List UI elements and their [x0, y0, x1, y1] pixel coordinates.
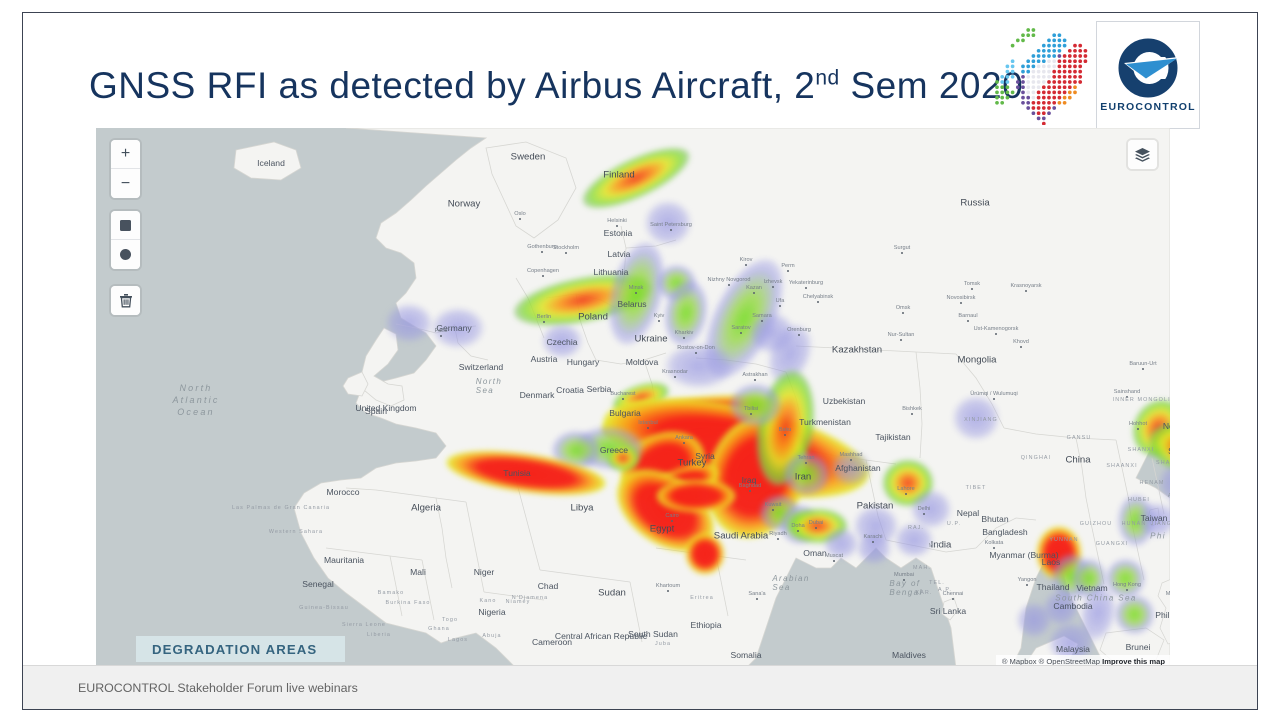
- map-label-city: Krasnodar: [662, 369, 688, 375]
- map-city-dot: [745, 264, 747, 266]
- map-label-city: Nizhny Novgorod: [708, 277, 751, 283]
- map-label-city: Astrakhan: [742, 372, 767, 378]
- slide-canvas: GNSS RFI as detected by Airbus Aircraft,…: [22, 12, 1258, 710]
- map-label-country: Nepal: [957, 508, 979, 518]
- map-label-city: Baku: [779, 427, 792, 433]
- map-label-country: Laos: [1042, 557, 1061, 567]
- map-city-dot: [805, 287, 807, 289]
- map-city-dot: [952, 598, 954, 600]
- delete-control-group[interactable]: [111, 286, 140, 315]
- map-label-country: Denmark: [520, 390, 555, 400]
- map-label-country: Mongolia: [958, 355, 997, 366]
- map-label-country: Vietnam: [1076, 583, 1107, 593]
- map-label-country: Iran: [795, 472, 812, 483]
- map-city-dot: [960, 302, 962, 304]
- map-city-dot: [1126, 589, 1128, 591]
- map-city-dot: [772, 509, 774, 511]
- zoom-in-button[interactable]: +: [111, 140, 140, 169]
- map-label-country: Greece: [600, 445, 628, 455]
- map-city-dot: [971, 288, 973, 290]
- map-label-city: Omsk: [896, 305, 911, 311]
- map-label-city: Krasnoyarsk: [1010, 283, 1041, 289]
- map-label-region: TIBET: [966, 485, 987, 491]
- layers-icon: [1134, 147, 1151, 163]
- map-label-country: Czechia: [546, 337, 577, 347]
- map-label-city: Barnaul: [958, 313, 977, 319]
- slide-footer: EUROCONTROL Stakeholder Forum live webin…: [23, 665, 1257, 709]
- map-label-country: North Korea: [1163, 421, 1170, 431]
- map-label-region: A.P.: [938, 587, 952, 593]
- delete-shapes-button[interactable]: [111, 286, 140, 315]
- map-label-city: Ust-Kamenogorsk: [974, 326, 1019, 332]
- degradation-areas-label: DEGRADATION AREAS: [152, 642, 317, 657]
- map-city-dot: [784, 434, 786, 436]
- map-city-dot: [872, 541, 874, 543]
- map-label-region: HUBEI: [1128, 497, 1150, 503]
- map-label-city: Ufa: [776, 298, 785, 304]
- zoom-control-group[interactable]: + −: [111, 140, 140, 198]
- map-label-city: Tehran: [797, 455, 814, 461]
- map-label-country: Moldova: [626, 357, 658, 367]
- map-label-city: Tomsk: [964, 281, 980, 287]
- map-label-country: Sweden: [511, 152, 546, 163]
- map-label-country: Tajikistan: [875, 432, 910, 442]
- map-city-dot: [967, 320, 969, 322]
- map-city-dot: [993, 547, 995, 549]
- map-label-country: Lithuania: [594, 267, 629, 277]
- map-label-country: Cambodia: [1053, 601, 1092, 611]
- map-city-dot: [622, 398, 624, 400]
- map-label-country: Philippines: [1155, 610, 1170, 620]
- map-city-dot: [750, 413, 752, 415]
- map-city-dot: [787, 270, 789, 272]
- map-label-city: Hohhot: [1129, 421, 1147, 427]
- map-label-city: Kazan: [746, 285, 762, 291]
- map-label-country: Finland: [603, 170, 634, 181]
- map-label-city: Kharkiv: [675, 330, 694, 336]
- map-label-layer: IcelandSwedenNorwayFinlandRussiaDenmarkU…: [96, 128, 1170, 668]
- map-label-city: Gothenburg: [527, 244, 557, 250]
- map-label-city: Lahore: [897, 486, 914, 492]
- map-label-city: Baghdad: [739, 483, 761, 489]
- map-label-region: Niamey: [506, 599, 531, 605]
- map-label-country: South Korea: [1168, 446, 1170, 456]
- map-label-country: Hungary: [567, 357, 599, 367]
- map-city-dot: [772, 286, 774, 288]
- map-label-country: Tunisia: [503, 468, 530, 478]
- map-label-country: Austria: [531, 354, 558, 364]
- map-city-dot: [543, 321, 545, 323]
- map-label-country: Egypt: [650, 524, 675, 535]
- map-label-country: Algeria: [411, 503, 441, 514]
- map-label-country: Thailand: [1037, 582, 1070, 592]
- map-label-country: Senegal: [302, 579, 334, 589]
- map-label-country: Ethiopia: [690, 620, 721, 630]
- map-label-country: Saudi Arabia: [714, 531, 768, 542]
- map-city-dot: [902, 312, 904, 314]
- map-label-region: JIANGXI: [1151, 521, 1170, 527]
- map-label-city: Yekaterinburg: [789, 280, 823, 286]
- zoom-out-button[interactable]: −: [111, 169, 140, 198]
- map-label-region: HENAM: [1140, 480, 1165, 486]
- map-label-country: Ukraine: [634, 334, 667, 345]
- map-label-city: Rostov-on-Don: [677, 345, 715, 351]
- map-city-dot: [850, 459, 852, 461]
- map-label-region: TEL.: [929, 580, 945, 586]
- map-city-dot: [905, 493, 907, 495]
- map-city-dot: [1137, 428, 1139, 430]
- map-label-region: U.P.: [947, 521, 961, 527]
- map-label-region: Lagos: [448, 637, 468, 643]
- map-label-country: Mauritania: [324, 555, 364, 565]
- map-label-region: Bamako: [378, 590, 404, 596]
- map-city-dot: [833, 560, 835, 562]
- map-label-city: Bucharest: [610, 391, 635, 397]
- map-city-dot: [1020, 346, 1022, 348]
- map-city-dot: [798, 334, 800, 336]
- map-city-dot: [761, 320, 763, 322]
- map-city-dot: [900, 339, 902, 341]
- map-label-country: Morocco: [327, 487, 360, 497]
- layers-control-group[interactable]: [1128, 140, 1157, 169]
- map-label-city: Cairo: [665, 513, 678, 519]
- map-label-city: Kolkata: [985, 540, 1004, 546]
- map-city-dot: [753, 292, 755, 294]
- map-label-region: Burkina Faso: [386, 600, 431, 606]
- map-label-city: Manila: [1166, 591, 1170, 597]
- europe-dot-map-logo: [993, 27, 1093, 125]
- footer-text: EUROCONTROL Stakeholder Forum live webin…: [78, 681, 358, 695]
- map-label-region: RAJ.: [908, 525, 924, 531]
- map-city-dot: [779, 305, 781, 307]
- map-city-dot: [671, 520, 673, 522]
- rfi-heatmap[interactable]: IcelandSwedenNorwayFinlandRussiaDenmarkU…: [96, 128, 1170, 668]
- map-label-region: SHANXI: [1128, 447, 1155, 453]
- draw-polygon-button[interactable]: [111, 211, 140, 240]
- map-label-country: Norway: [448, 199, 481, 210]
- map-label-country: Somalia: [730, 650, 761, 660]
- map-label-water: NorthAtlanticOcean: [172, 382, 219, 418]
- map-label-city: Mumbai: [894, 572, 914, 578]
- map-label-city: Baruun-Urt: [1129, 361, 1156, 367]
- map-label-city: Sana'a: [748, 591, 765, 597]
- map-city-dot: [440, 335, 442, 337]
- map-label-region: HUNAN: [1122, 521, 1147, 527]
- map-city-dot: [901, 252, 903, 254]
- map-label-country: Bhutan: [981, 514, 1008, 524]
- map-label-country: Brunei: [1126, 642, 1151, 652]
- map-label-country: Latvia: [608, 249, 631, 259]
- eurocontrol-emblem-icon: [1111, 38, 1185, 98]
- map-city-dot: [683, 442, 685, 444]
- map-label-city: Istanbul: [638, 420, 658, 426]
- map-label-region: GANSU: [1067, 435, 1092, 441]
- map-label-country: Bangladesh: [982, 527, 1027, 537]
- map-label-country: Syria: [695, 451, 715, 461]
- map-label-city: Saratov: [731, 325, 750, 331]
- map-label-region: Ghana: [428, 626, 450, 632]
- map-label-country: Belarus: [617, 299, 646, 309]
- map-label-country: Chad: [538, 581, 559, 591]
- title-ordinal-superscript: nd: [815, 67, 839, 90]
- map-city-dot: [817, 301, 819, 303]
- map-label-region: Eritrea: [690, 595, 714, 601]
- map-city-dot: [647, 427, 649, 429]
- map-label-country: Sri Lanka: [930, 606, 966, 616]
- map-city-dot: [616, 225, 618, 227]
- map-label-region: Kano: [480, 598, 497, 604]
- map-label-city: Hong Kong: [1113, 582, 1141, 588]
- map-label-region: Liberia: [367, 632, 391, 638]
- map-city-dot: [635, 292, 637, 294]
- map-label-country: Spain: [365, 406, 387, 416]
- map-label-city: Surgut: [894, 245, 910, 251]
- map-label-country: Russia: [960, 198, 989, 209]
- map-label-city: Khartoum: [656, 583, 680, 589]
- map-label-country: Switzerland: [459, 362, 503, 372]
- map-label-region: GUIZHOU: [1080, 521, 1113, 527]
- map-city-dot: [674, 376, 676, 378]
- map-label-region: ANHUI: [1168, 493, 1170, 499]
- map-label-country: Nigeria: [478, 607, 505, 617]
- map-label-city: Khovd: [1013, 339, 1029, 345]
- title-main-text: GNSS RFI as detected by Airbus Aircraft,…: [89, 65, 815, 106]
- map-label-city: Copenhagen: [527, 268, 559, 274]
- map-label-region: Western Sahara: [269, 529, 323, 535]
- eurocontrol-logo: EUROCONTROL: [1096, 21, 1200, 129]
- map-label-region: Togo: [442, 617, 458, 623]
- map-city-dot: [541, 251, 543, 253]
- map-city-dot: [670, 229, 672, 231]
- map-label-city: Minsk: [629, 285, 644, 291]
- map-label-city: Stockholm: [553, 245, 579, 251]
- map-label-city: Paris: [435, 328, 448, 334]
- map-label-city: Samara: [752, 313, 772, 319]
- map-label-city: Mashhad: [839, 452, 862, 458]
- map-city-dot: [542, 275, 544, 277]
- map-label-city: Bishkek: [902, 406, 922, 412]
- map-label-country: Oman: [803, 548, 826, 558]
- map-label-country: Turkmenistan: [799, 417, 851, 427]
- map-label-city: Ürümqi / Wulumuqi: [970, 391, 1017, 397]
- map-label-region: YUNNAN: [1049, 537, 1078, 543]
- map-label-country: Uzbekistan: [823, 396, 866, 406]
- map-label-region: XINJIANG: [964, 417, 998, 423]
- map-label-city: Riyadh: [769, 531, 786, 537]
- map-label-city: Sainshand: [1114, 389, 1140, 395]
- map-city-dot: [728, 284, 730, 286]
- map-label-country: Mali: [410, 567, 426, 577]
- map-label-region: MAH.: [913, 565, 931, 571]
- map-label-region: INNER MONGOLIA: [1113, 397, 1170, 403]
- map-label-city: Delhi: [918, 506, 931, 512]
- map-city-dot: [1025, 290, 1027, 292]
- map-label-country: Libya: [571, 503, 594, 514]
- map-label-city: Oslo: [514, 211, 526, 217]
- map-city-dot: [667, 590, 669, 592]
- map-label-city: Perm: [781, 263, 794, 269]
- map-city-dot: [815, 527, 817, 529]
- map-city-dot: [995, 333, 997, 335]
- map-label-city: Orenburg: [787, 327, 811, 333]
- map-city-dot: [777, 538, 779, 540]
- map-label-country: Bulgaria: [609, 408, 641, 418]
- map-label-country: Poland: [578, 312, 608, 323]
- map-city-dot: [1142, 368, 1144, 370]
- map-label-city: Izhevsk: [764, 279, 783, 285]
- map-label-city: Tbilisi: [744, 406, 758, 412]
- map-city-dot: [993, 398, 995, 400]
- map-city-dot: [740, 332, 742, 334]
- eurocontrol-wordmark: EUROCONTROL: [1100, 101, 1195, 113]
- map-label-country: Pakistan: [857, 501, 894, 512]
- map-city-dot: [519, 218, 521, 220]
- map-label-city: Muscat: [825, 553, 843, 559]
- map-city-dot: [683, 337, 685, 339]
- map-label-country: Croatia: [556, 385, 584, 395]
- map-label-city: Kyiv: [654, 313, 665, 319]
- map-label-water: Bay ofBengal: [889, 579, 922, 597]
- map-label-city: Kuwait: [765, 502, 782, 508]
- map-label-water: South China Sea: [1055, 594, 1137, 603]
- map-label-region: GUANGXI: [1096, 541, 1129, 547]
- map-label-country: Estonia: [604, 228, 633, 238]
- map-city-dot: [565, 252, 567, 254]
- map-label-region: QINGHAI: [1021, 455, 1051, 461]
- map-city-dot: [695, 352, 697, 354]
- map-label-country: Maldives: [892, 650, 926, 660]
- map-label-country: Iceland: [257, 158, 285, 168]
- trash-icon: [119, 293, 133, 308]
- map-label-city: Kirov: [740, 257, 753, 263]
- map-label-city: Karachi: [864, 534, 883, 540]
- map-label-country: Niger: [474, 567, 495, 577]
- map-label-region: Juba: [655, 641, 671, 647]
- map-label-water: ArabianSea: [772, 574, 809, 592]
- square-draw-icon: [120, 220, 131, 231]
- map-city-dot: [805, 462, 807, 464]
- draw-control-group[interactable]: [111, 211, 140, 269]
- map-label-region: Guinea-Bissau: [299, 605, 349, 611]
- map-label-region: M.P.: [929, 543, 944, 549]
- map-label-water: Phi: [1150, 532, 1166, 541]
- draw-circle-button[interactable]: [111, 240, 140, 269]
- map-label-country: South Sudan: [628, 629, 678, 639]
- degradation-areas-banner: DEGRADATION AREAS: [136, 636, 345, 662]
- map-city-dot: [1026, 584, 1028, 586]
- map-label-water: NorthSea: [476, 377, 503, 395]
- map-label-country: Kazakhstan: [832, 345, 882, 356]
- map-city-dot: [754, 379, 756, 381]
- map-city-dot: [911, 413, 913, 415]
- map-label-city: Nur-Sultan: [888, 332, 915, 338]
- map-label-region: Abuja: [482, 633, 501, 639]
- layers-button[interactable]: [1128, 140, 1157, 169]
- circle-draw-icon: [120, 249, 131, 260]
- map-label-city: Novosibirsk: [947, 295, 976, 301]
- map-label-country: China: [1065, 455, 1090, 466]
- map-label-city: Saint Petersburg: [650, 222, 692, 228]
- map-city-dot: [749, 490, 751, 492]
- map-label-city: Yangon: [1018, 577, 1037, 583]
- map-label-city: Chelyabinsk: [803, 294, 833, 300]
- map-label-city: Helsinki: [607, 218, 627, 224]
- map-label-city: Ankara: [675, 435, 693, 441]
- map-label-city: Berlin: [537, 314, 551, 320]
- map-city-dot: [797, 530, 799, 532]
- map-label-country: Sudan: [598, 588, 626, 599]
- map-label-region: Sierra Leone: [342, 622, 386, 628]
- map-city-dot: [658, 320, 660, 322]
- page-title: GNSS RFI as detected by Airbus Aircraft,…: [89, 65, 1023, 107]
- map-label-country: Afghanistan: [835, 463, 880, 473]
- map-label-region: Las Palmas de Gran Canaria: [232, 505, 330, 511]
- map-city-dot: [756, 598, 758, 600]
- map-city-dot: [923, 513, 925, 515]
- map-label-region: SHAANXI: [1106, 463, 1137, 469]
- map-label-country: Malaysia: [1056, 644, 1090, 654]
- map-label-city: Doha: [791, 523, 804, 529]
- map-label-country: Serbia: [587, 384, 612, 394]
- map-label-city: Dubai: [809, 520, 824, 526]
- map-label-region: SHANDONG: [1156, 460, 1170, 466]
